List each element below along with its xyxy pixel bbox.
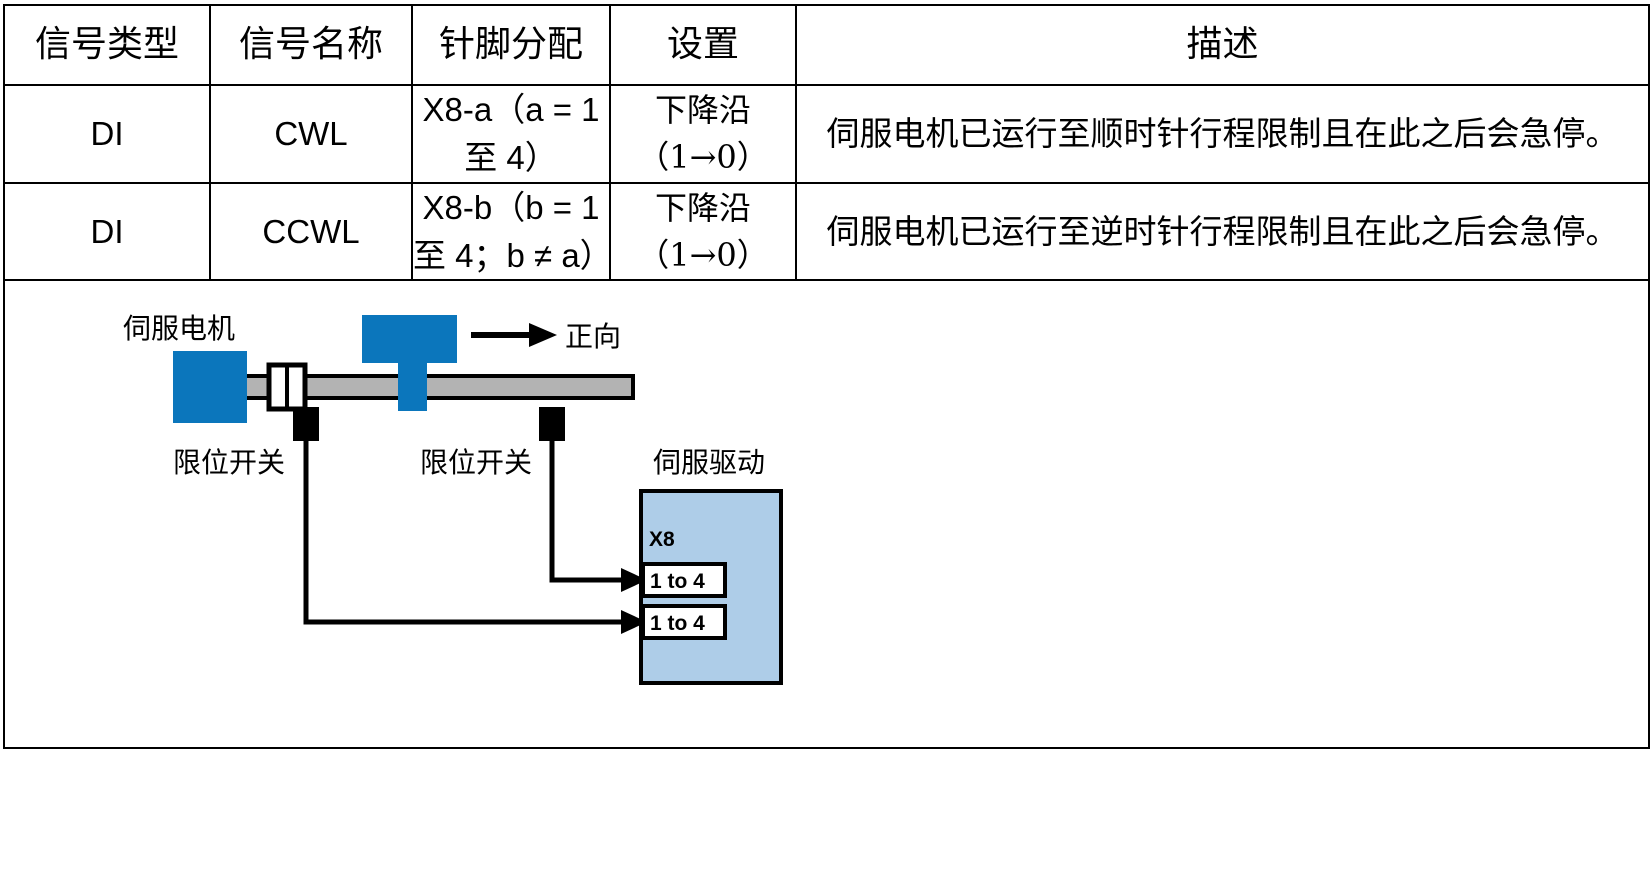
cell-signal-name: CCWL [210, 183, 412, 281]
label-connector-x8: X8 [649, 528, 675, 552]
label-terminal-bottom: 1 to 4 [650, 612, 705, 636]
label-servo-motor: 伺服电机 [123, 307, 235, 347]
header-description: 描述 [796, 5, 1649, 85]
cell-signal-type: DI [4, 183, 210, 281]
table-row: DI CWL X8-a（a = 1 至 4） 下降沿（1→0） 伺服电机已运行至… [4, 85, 1649, 183]
limit-switch-left-block [293, 407, 319, 441]
diagram-row: 伺服电机 正向 限位开关 限位开关 伺服驱动 X8 1 to 4 1 to 4 [4, 280, 1649, 748]
servo-motor-body [173, 351, 247, 423]
signal-specification-table: 信号类型 信号名称 针脚分配 设置 描述 DI CWL X8-a（a = 1 至… [3, 4, 1650, 749]
cell-wiring-diagram: 伺服电机 正向 限位开关 限位开关 伺服驱动 X8 1 to 4 1 to 4 [4, 280, 1649, 748]
header-pin-assignment: 针脚分配 [412, 5, 610, 85]
cell-pin-assignment: X8-a（a = 1 至 4） [412, 85, 610, 183]
table-header-row: 信号类型 信号名称 针脚分配 设置 描述 [4, 5, 1649, 85]
label-servo-drive: 伺服驱动 [653, 441, 765, 481]
header-signal-name: 信号名称 [210, 5, 412, 85]
cell-signal-name: CWL [210, 85, 412, 183]
cell-setting: 下降沿（1→0） [610, 183, 796, 281]
table-row: DI CCWL X8-b（b = 1 至 4；b ≠ a） 下降沿（1→0） 伺… [4, 183, 1649, 281]
header-setting: 设置 [610, 5, 796, 85]
diagram-graphics [5, 283, 1648, 745]
wire-right-switch [552, 441, 627, 580]
cell-description: 伺服电机已运行至顺时针行程限制且在此之后会急停。 [796, 85, 1649, 183]
label-terminal-top: 1 to 4 [650, 570, 705, 594]
cell-pin-assignment: X8-b（b = 1 至 4；b ≠ a） [412, 183, 610, 281]
forward-arrow-head [529, 323, 557, 347]
label-forward-direction: 正向 [565, 315, 621, 355]
cell-signal-type: DI [4, 85, 210, 183]
limit-switch-wiring-diagram: 伺服电机 正向 限位开关 限位开关 伺服驱动 X8 1 to 4 1 to 4 [5, 283, 1648, 745]
cell-description: 伺服电机已运行至逆时针行程限制且在此之后会急停。 [796, 183, 1649, 281]
label-limit-switch-right: 限位开关 [420, 441, 532, 481]
cell-setting: 下降沿（1→0） [610, 85, 796, 183]
signal-table-sheet: 信号类型 信号名称 针脚分配 设置 描述 DI CWL X8-a（a = 1 至… [0, 4, 1651, 885]
header-signal-type: 信号类型 [4, 5, 210, 85]
limit-switch-right-block [539, 407, 565, 441]
label-limit-switch-left: 限位开关 [173, 441, 285, 481]
